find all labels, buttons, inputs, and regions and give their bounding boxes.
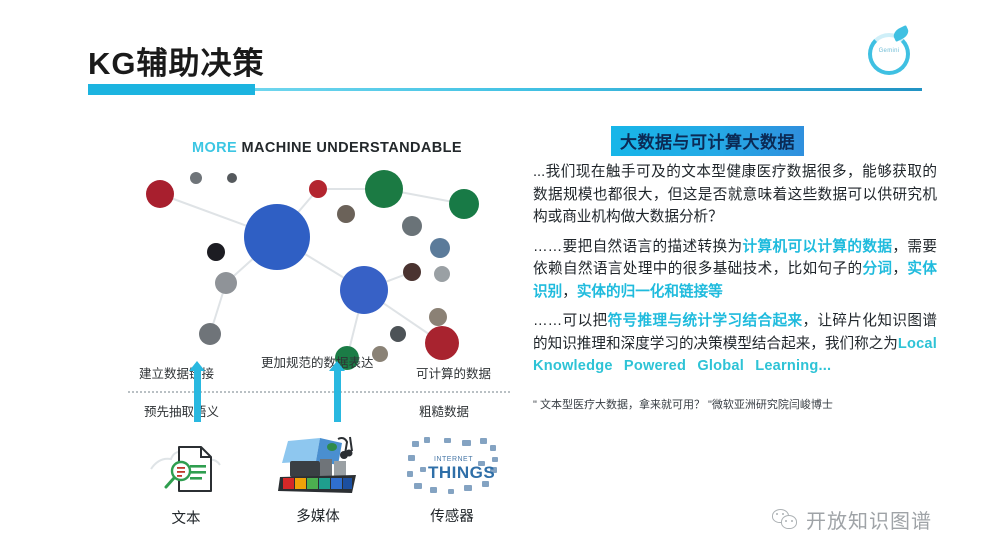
- data-maturity-axis: 建立数据链接 更加规范的数据表达 可计算的数据 预先抽取语义 粗糙数据: [120, 360, 520, 430]
- text-segment-4: ，: [892, 261, 907, 277]
- source-footnote: " 文本型医疗大数据，拿来就可用？ "微软亚洲研究院闫峻博士: [533, 396, 937, 412]
- paragraph-1: ...我们现在触手可及的文本型健康医疗数据很多，能够获取的数据规模也都很大，但这…: [533, 161, 937, 229]
- text-segment-7: 实体的归一化和链接等: [577, 284, 723, 300]
- graph-node: [402, 216, 422, 236]
- paragraph-3: ……可以把符号推理与统计学习结合起来，让碎片化知识图谱的知识推理和深度学习的决策…: [533, 310, 937, 378]
- graph-node: [403, 263, 421, 281]
- graph-node: [244, 204, 310, 270]
- axis-label-top-2: 可计算的数据: [416, 363, 491, 382]
- text-segment-0: ……可以把: [533, 313, 608, 329]
- text-panel: 大数据与可计算大数据 ...我们现在触手可及的文本型健康医疗数据很多，能够获取的…: [533, 126, 937, 412]
- graph-node: [430, 238, 450, 258]
- text-segment-1: 符号推理与统计学习结合起来: [608, 313, 803, 329]
- title-underline-bar: [88, 84, 255, 95]
- graph-node: [340, 266, 388, 314]
- graph-node: [337, 205, 355, 223]
- graph-node: [190, 172, 202, 184]
- axis-label-top-1: 更加规范的数据表达: [261, 352, 374, 371]
- graph-svg: [142, 162, 510, 372]
- data-source-multimedia: 多媒体: [258, 435, 378, 526]
- axis-label-bottom-0: 预先抽取语义: [144, 401, 219, 420]
- graph-node: [429, 308, 447, 326]
- multimedia-film-icon: [258, 435, 378, 497]
- graph-node: [227, 173, 237, 183]
- graph-node: [309, 180, 327, 198]
- wechat-icon: [772, 509, 798, 531]
- graph-node: [425, 326, 459, 360]
- text-segment-1: 计算机可以计算的数据: [742, 239, 892, 255]
- data-source-label-1: 多媒体: [258, 505, 378, 526]
- data-source-label-2: 传感器: [392, 505, 512, 526]
- brand-logo: Gemini: [864, 27, 918, 81]
- page-title: KG辅助决策: [88, 38, 265, 83]
- graph-node: [365, 170, 403, 208]
- watermark: 开放知识图谱: [772, 505, 932, 534]
- watermark-label: 开放知识图谱: [806, 505, 932, 534]
- knowledge-graph-illustration: [142, 162, 510, 372]
- logo-ring-icon: [868, 33, 910, 75]
- data-source-sensor: INTERNET THINGS 传感器: [392, 435, 512, 526]
- diagram-heading: MORE MACHINE UNDERSTANDABLE: [192, 140, 462, 156]
- graph-node: [207, 243, 225, 261]
- svg-text:THINGS: THINGS: [428, 463, 495, 482]
- data-source-text: 文本: [126, 437, 246, 528]
- diagram-heading-accent: MORE: [192, 140, 237, 156]
- internet-of-things-icon: INTERNET THINGS: [392, 435, 512, 497]
- data-source-label-0: 文本: [126, 507, 246, 528]
- diagram-panel: MORE MACHINE UNDERSTANDABLE 建立数据链接 更加规范的…: [120, 130, 520, 540]
- svg-text:INTERNET: INTERNET: [434, 456, 473, 463]
- paragraph-2: ……要把自然语言的描述转换为计算机可以计算的数据，需要依赖自然语言处理中的很多基…: [533, 236, 937, 304]
- graph-node: [215, 272, 237, 294]
- slide-canvas: KG辅助决策 Gemini MORE MACHINE UNDERSTANDABL…: [0, 0, 1005, 557]
- document-magnifier-icon: [126, 437, 246, 499]
- graph-node: [199, 323, 221, 345]
- diagram-heading-rest: MACHINE UNDERSTANDABLE: [237, 140, 462, 156]
- data-source-icons: 文本: [120, 435, 520, 540]
- up-arrow-icon-2: [334, 370, 341, 422]
- up-arrow-icon-1: [194, 370, 201, 422]
- text-segment-6: ，: [562, 284, 577, 300]
- title-underline-rule: [255, 88, 922, 91]
- graph-node: [146, 180, 174, 208]
- graph-node: [449, 189, 479, 219]
- graph-node: [434, 266, 450, 282]
- text-segment-0: ……要把自然语言的描述转换为: [533, 239, 742, 255]
- logo-text: Gemini: [864, 48, 914, 54]
- logo-leaf-icon: [891, 25, 910, 42]
- text-segment-3: 分词: [862, 261, 892, 277]
- section-heading: 大数据与可计算大数据: [611, 126, 804, 156]
- text-segment-0: ...我们现在触手可及的文本型健康医疗数据很多，能够获取的数据规模也都很大，但这…: [533, 164, 937, 225]
- axis-dotted-divider: [128, 391, 510, 393]
- axis-label-bottom-1: 粗糙数据: [419, 401, 469, 420]
- graph-node: [390, 326, 406, 342]
